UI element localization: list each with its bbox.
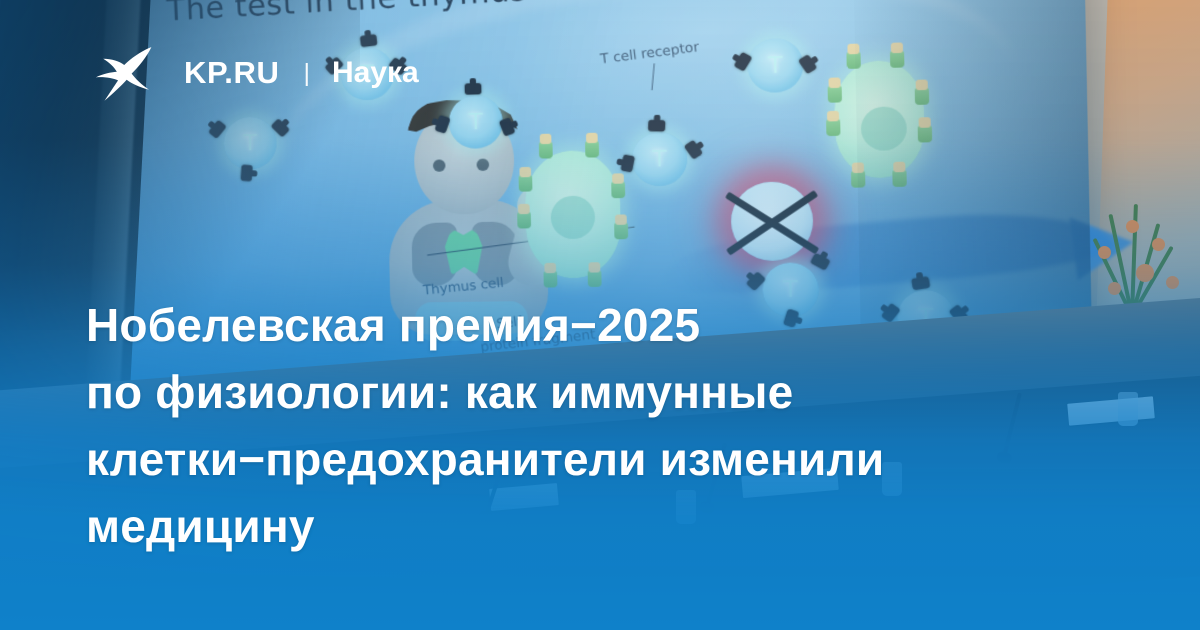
brand-section-label[interactable]: Наука: [332, 56, 419, 90]
brand-header[interactable]: KP.RU | Наука: [92, 44, 419, 102]
mhc-molecule: [543, 270, 557, 288]
t-cell-letter: T: [243, 130, 257, 155]
t-cell-receptor-glyph: [241, 165, 253, 182]
t-cell-letter: T: [652, 146, 667, 172]
flower-bloom: [1136, 264, 1154, 282]
page-title: Нобелевская премия−2025 по физиологии: к…: [86, 292, 1106, 560]
flower-bloom: [1152, 238, 1165, 251]
flower-bloom: [1108, 282, 1121, 295]
mhc-molecule: [519, 174, 533, 192]
mhc-molecule: [585, 140, 599, 158]
headline-line-1: Нобелевская премия−2025: [86, 292, 1106, 359]
t-cell-letter: T: [469, 109, 483, 135]
flower-bloom: [1098, 246, 1111, 259]
t-cell-receptor-glyph: [648, 120, 666, 132]
t-cell-receptor-glyph: [465, 83, 482, 95]
thymus-cell-shape: [524, 150, 621, 279]
mhc-molecule: [828, 85, 842, 103]
share-card: The test in the thymus: [0, 0, 1200, 630]
mhc-molecule: [614, 222, 628, 240]
flower-bloom: [1126, 220, 1139, 233]
brand-separator: |: [303, 59, 310, 88]
brand-name[interactable]: KP.RU: [184, 55, 279, 91]
flower-bloom: [1166, 276, 1179, 289]
t-cell-letter: T: [768, 52, 783, 78]
mhc-molecule: [539, 141, 553, 159]
mhc-molecule: [588, 269, 602, 287]
headline-line-3: клетки−предохранители изменили: [86, 426, 1106, 493]
mhc-molecule: [826, 118, 840, 136]
headline-line-2: по физиологии: как иммунные: [86, 359, 1106, 426]
t-cell-receptor-glyph: [208, 120, 227, 139]
t-cell: T: [223, 116, 277, 170]
mhc-molecule: [611, 180, 625, 198]
mhc-molecule: [517, 211, 531, 229]
headline-line-4: медицину: [86, 493, 1106, 560]
swallow-bird-icon[interactable]: [92, 44, 154, 102]
thymus-nucleus: [550, 195, 595, 239]
water-glass: [1118, 392, 1138, 426]
